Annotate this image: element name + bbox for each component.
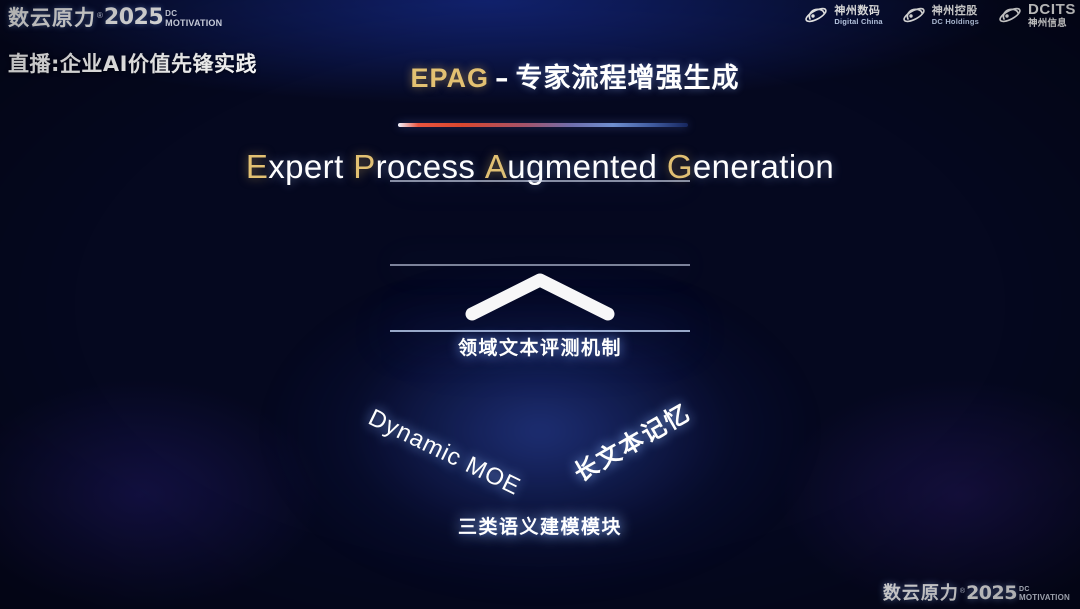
watermark-cn: 数云原力 bbox=[883, 585, 959, 603]
watermark-year: 2025 bbox=[966, 584, 1017, 603]
partner-name-en: 神州信息 bbox=[1028, 19, 1076, 29]
stack-layer-middle-plate bbox=[390, 264, 690, 266]
partner-name-en: Digital China bbox=[834, 18, 882, 26]
subtitle-cap-1: P bbox=[353, 148, 375, 185]
partner-logo-bar: 神州数码 Digital China 神州控股 DC Holdings bbox=[803, 2, 1076, 29]
partner-logo-digital-china: 神州数码 Digital China bbox=[803, 4, 882, 26]
background-glow-center bbox=[190, 200, 890, 609]
partner-logo-text: DCITS 神州信息 bbox=[1028, 2, 1076, 29]
brand-logo-motivation: MOTIVATION bbox=[165, 19, 222, 28]
stack-layer-bottom bbox=[390, 330, 690, 609]
subtitle-cap-2: A bbox=[485, 148, 507, 185]
stack-layer-middle-label-left: Dynamic MOE bbox=[364, 404, 525, 502]
watermark-dc: DC bbox=[1019, 586, 1070, 593]
stack-layer-middle bbox=[390, 264, 690, 564]
chevron-up-icon bbox=[460, 268, 620, 326]
title-acronym: EPAG bbox=[410, 63, 489, 93]
partner-name-cn: 神州数码 bbox=[834, 5, 882, 16]
partner-logo-text: 神州控股 DC Holdings bbox=[932, 5, 979, 26]
header-brand-logo: 数云原力 ® 2025 DC MOTIVATION bbox=[8, 3, 222, 29]
swirl-icon bbox=[803, 4, 829, 26]
subtitle-rest-3: eneration bbox=[693, 148, 834, 185]
chevron-up-icon-wrap bbox=[0, 268, 1080, 331]
page-subtitle: Expert Process Augmented Generation bbox=[0, 148, 1080, 186]
brand-logo-year: 2025 bbox=[104, 7, 163, 29]
title-divider-rule bbox=[398, 123, 688, 127]
partner-logo-dc-holdings: 神州控股 DC Holdings bbox=[901, 4, 979, 26]
subtitle-rest-0: xpert bbox=[268, 148, 343, 185]
stack-layer-middle-label-right: 长文本记忆 bbox=[566, 393, 696, 488]
slide-canvas: 数云原力 ® 2025 DC MOTIVATION 直播:企业AI价值先锋实践 … bbox=[0, 0, 1080, 609]
partner-logo-dcits: DCITS 神州信息 bbox=[997, 2, 1076, 29]
subtitle-rest-1: rocess bbox=[376, 148, 476, 185]
stack-layer-bottom-label: 三类语义建模模块 bbox=[0, 512, 1080, 539]
stack-layer-top bbox=[390, 180, 690, 480]
brand-logo-cn: 数云原力 bbox=[8, 8, 96, 29]
partner-name-cn: DCITS bbox=[1028, 2, 1076, 17]
subtitle-cap-3: G bbox=[667, 148, 693, 185]
stack-layer-bottom-plate bbox=[390, 330, 690, 332]
title-chinese: 专家流程增强生成 bbox=[516, 63, 740, 94]
stack-layer-top-label: 领域文本评测机制 bbox=[0, 333, 1080, 360]
page-title: EPAG–专家流程增强生成 bbox=[0, 56, 1080, 95]
swirl-icon bbox=[997, 4, 1023, 26]
watermark-registered-mark: ® bbox=[960, 588, 965, 595]
brand-logo-registered-mark: ® bbox=[97, 12, 103, 20]
partner-name-cn: 神州控股 bbox=[932, 5, 979, 16]
partner-logo-text: 神州数码 Digital China bbox=[834, 5, 882, 26]
subtitle-rest-2: ugmented bbox=[507, 148, 657, 185]
title-dash: – bbox=[495, 63, 510, 94]
footer-watermark: 数云原力 ® 2025 DC MOTIVATION bbox=[883, 584, 1070, 603]
background-glow-bottom-right bbox=[700, 330, 1080, 609]
brand-logo-dc-motivation: DC MOTIVATION bbox=[165, 10, 222, 28]
brand-logo-dc: DC bbox=[165, 10, 222, 18]
watermark-motivation: MOTIVATION bbox=[1019, 594, 1070, 602]
partner-name-en: DC Holdings bbox=[932, 18, 979, 26]
swirl-icon bbox=[901, 4, 927, 26]
subtitle-cap-0: E bbox=[246, 148, 268, 185]
watermark-dc-motivation: DC MOTIVATION bbox=[1019, 586, 1070, 602]
background-glow-bottom-left bbox=[0, 330, 400, 609]
